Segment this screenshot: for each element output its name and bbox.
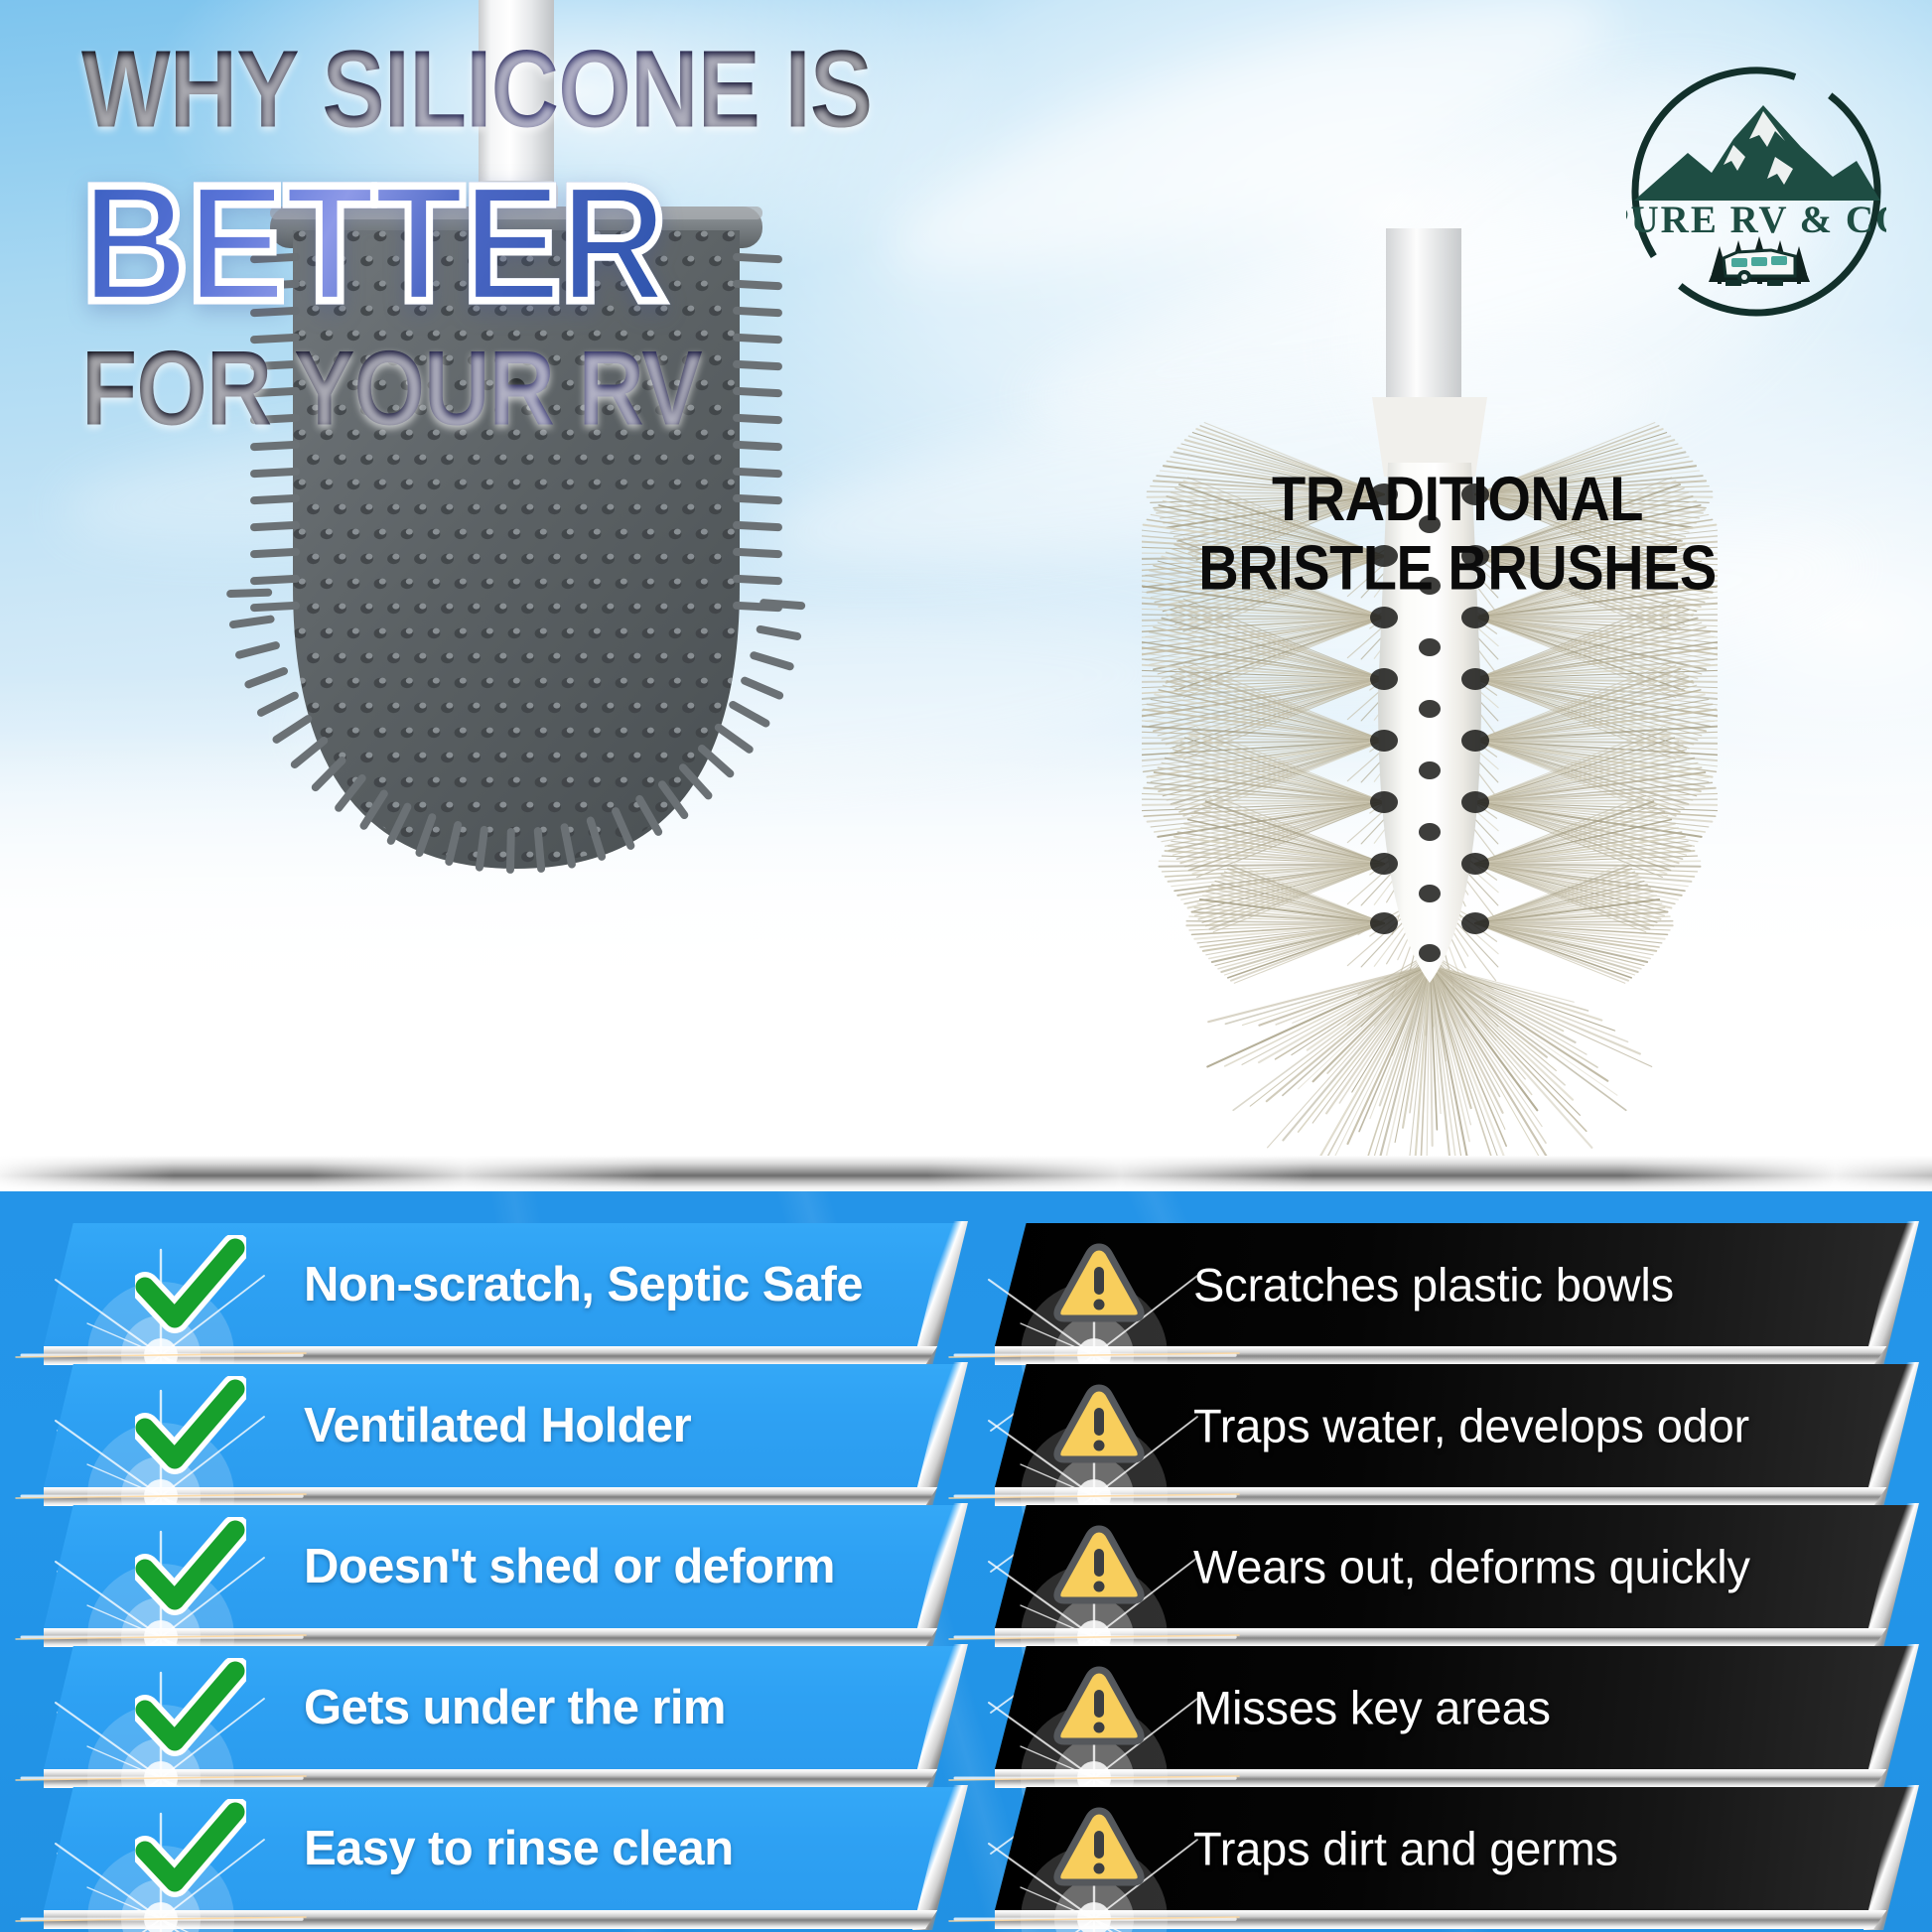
headline-line-1: WHY SILICONE IS bbox=[81, 36, 1084, 145]
warning-icon bbox=[1050, 1521, 1148, 1612]
pro-row-silver-strip bbox=[44, 1910, 967, 1929]
pro-row-label: Gets under the rim bbox=[304, 1680, 726, 1735]
pro-row-silver-strip bbox=[44, 1769, 967, 1788]
headline-line-2-accent: BETTER bbox=[81, 164, 1084, 323]
con-row[interactable]: Misses key areas bbox=[995, 1646, 1918, 1769]
bristle-brush-image bbox=[1142, 228, 1718, 1162]
con-row-label: Traps dirt and germs bbox=[1193, 1822, 1618, 1876]
con-row[interactable]: Traps dirt and germs bbox=[995, 1787, 1918, 1910]
check-icon bbox=[135, 1658, 246, 1757]
check-icon-wrap bbox=[135, 1376, 246, 1475]
con-row-silver-strip bbox=[995, 1487, 1918, 1506]
pro-row[interactable]: Non-scratch, Septic Safe bbox=[44, 1223, 967, 1346]
con-row-label: Wears out, deforms quickly bbox=[1193, 1540, 1750, 1594]
traditional-brush-label-line-1: TRADITIONAL bbox=[1140, 465, 1775, 533]
check-icon-wrap bbox=[135, 1658, 246, 1757]
section-divider bbox=[0, 1156, 1932, 1191]
mountain-icon bbox=[1634, 105, 1880, 201]
pro-row[interactable]: Doesn't shed or deform bbox=[44, 1505, 967, 1628]
check-icon-wrap bbox=[135, 1517, 246, 1616]
pro-row[interactable]: Easy to rinse clean bbox=[44, 1787, 967, 1910]
con-row[interactable]: Wears out, deforms quickly bbox=[995, 1505, 1918, 1628]
warning-icon-wrap bbox=[1050, 1380, 1148, 1471]
con-row-silver-strip bbox=[995, 1628, 1918, 1647]
con-row-label: Scratches plastic bowls bbox=[1193, 1258, 1674, 1312]
comparison-section: Non-scratch, Septic Safe Scratches plast… bbox=[0, 1189, 1932, 1932]
pure-rv-and-co-logo: PURE RV & CO bbox=[1626, 62, 1886, 322]
pro-row-label: Ventilated Holder bbox=[304, 1398, 691, 1453]
traditional-brush-label: TRADITIONAL BRISTLE BRUSHES bbox=[1140, 465, 1775, 602]
con-row-label: Traps water, develops odor bbox=[1193, 1399, 1749, 1453]
hero-headline: WHY SILICONE IS BETTER FOR YOUR RV bbox=[81, 36, 1084, 427]
traditional-brush-label-line-2: BRISTLE BRUSHES bbox=[1140, 533, 1775, 602]
pro-row-label: Non-scratch, Septic Safe bbox=[304, 1257, 863, 1312]
warning-icon bbox=[1050, 1380, 1148, 1471]
con-row-silver-strip bbox=[995, 1769, 1918, 1788]
check-icon bbox=[135, 1517, 246, 1616]
warning-icon-wrap bbox=[1050, 1803, 1148, 1894]
con-row[interactable]: Scratches plastic bowls bbox=[995, 1223, 1918, 1346]
pro-row[interactable]: Ventilated Holder bbox=[44, 1364, 967, 1487]
con-row-silver-strip bbox=[995, 1910, 1918, 1929]
logo-wordmark: PURE RV & CO bbox=[1626, 199, 1886, 241]
con-row-silver-strip bbox=[995, 1346, 1918, 1365]
warning-icon-wrap bbox=[1050, 1662, 1148, 1753]
check-icon-wrap bbox=[135, 1235, 246, 1334]
check-icon-wrap bbox=[135, 1799, 246, 1898]
con-row-label: Misses key areas bbox=[1193, 1681, 1551, 1735]
check-icon bbox=[135, 1235, 246, 1334]
check-icon bbox=[135, 1799, 246, 1898]
infographic-canvas: WHY SILICONE IS BETTER FOR YOUR RV PURE … bbox=[0, 0, 1932, 1932]
comparison-rows: Non-scratch, Septic Safe Scratches plast… bbox=[0, 1189, 1932, 1932]
pro-row-silver-strip bbox=[44, 1346, 967, 1365]
pro-row-label: Doesn't shed or deform bbox=[304, 1539, 835, 1594]
headline-line-3: FOR YOUR RV bbox=[81, 336, 1084, 442]
pro-row-silver-strip bbox=[44, 1487, 967, 1506]
warning-icon bbox=[1050, 1803, 1148, 1894]
check-icon bbox=[135, 1376, 246, 1475]
pro-row-silver-strip bbox=[44, 1628, 967, 1647]
con-row[interactable]: Traps water, develops odor bbox=[995, 1364, 1918, 1487]
warning-icon bbox=[1050, 1662, 1148, 1753]
warning-icon bbox=[1050, 1239, 1148, 1330]
pro-row[interactable]: Gets under the rim bbox=[44, 1646, 967, 1769]
warning-icon-wrap bbox=[1050, 1239, 1148, 1330]
warning-icon-wrap bbox=[1050, 1521, 1148, 1612]
pro-row-label: Easy to rinse clean bbox=[304, 1821, 734, 1876]
